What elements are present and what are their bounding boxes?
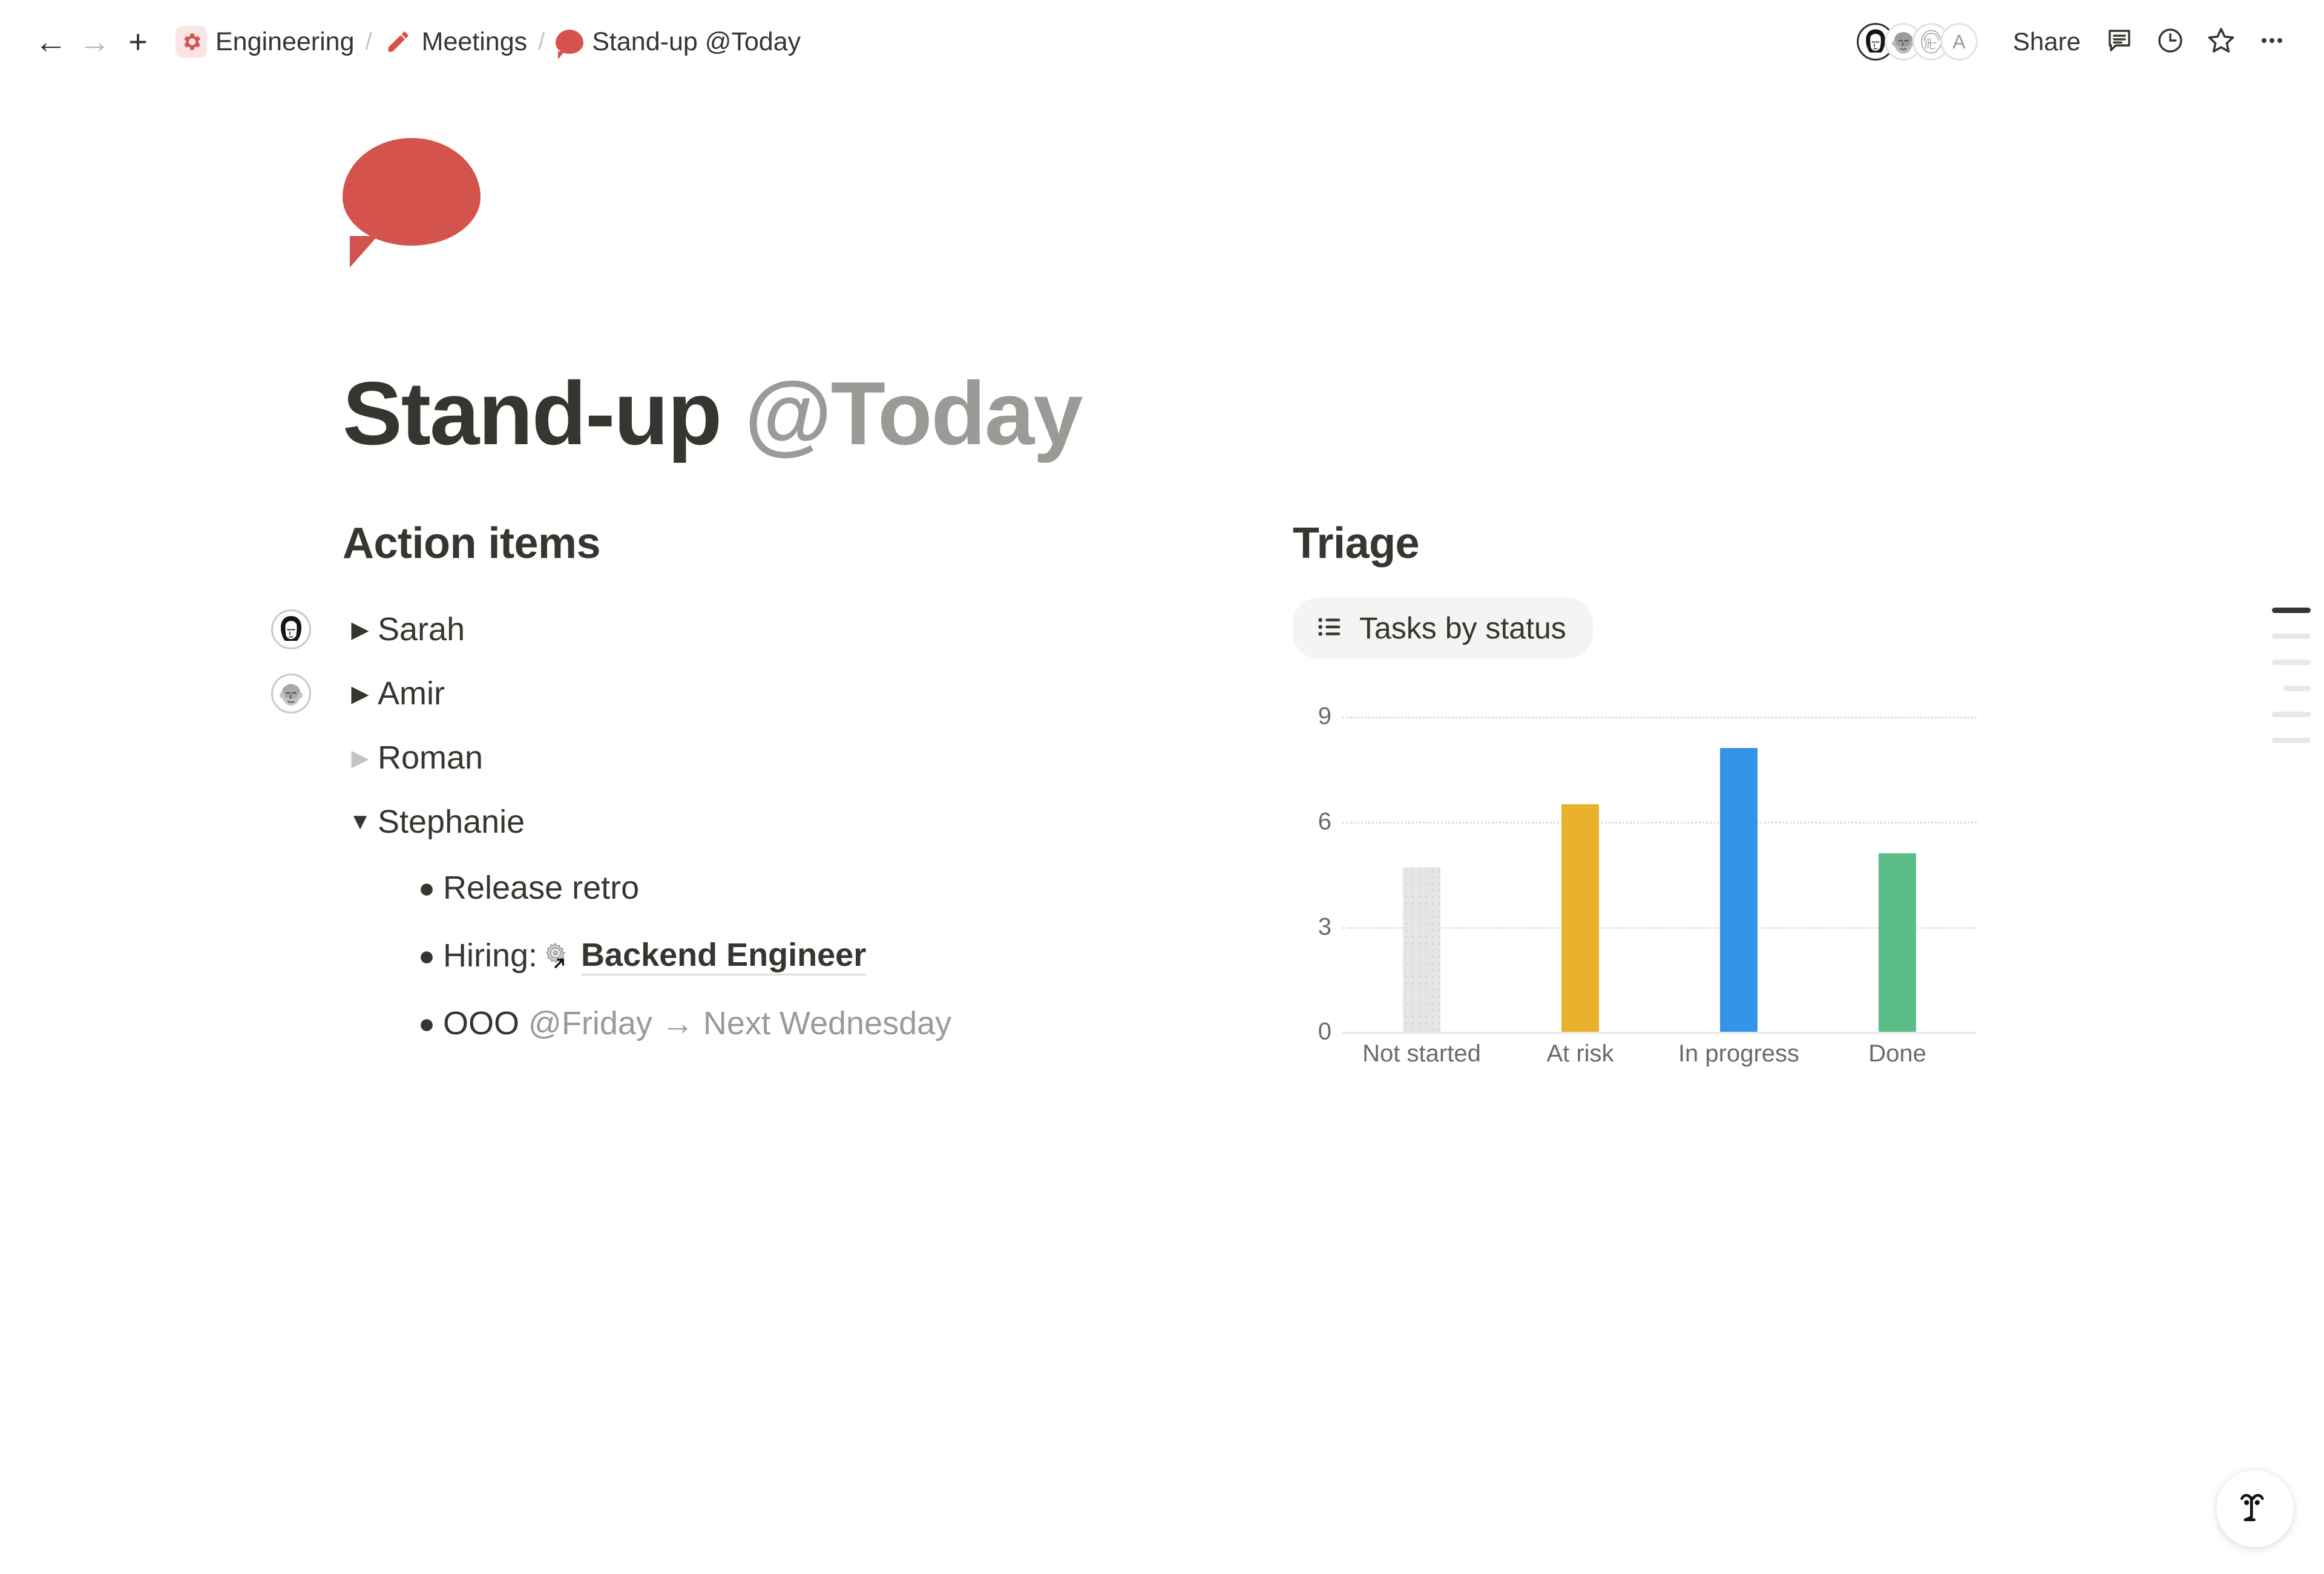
chart-bar[interactable] xyxy=(1561,804,1599,1032)
list-item-hiring-content: Hiring: Backend Engineer xyxy=(443,936,866,976)
comment-icon xyxy=(2105,26,2134,58)
plus-icon: + xyxy=(128,25,148,58)
collaborator-avatars: A xyxy=(1857,23,1978,61)
bullet-icon: ● xyxy=(410,874,443,902)
chart-y-tick-label: 9 xyxy=(1289,703,1331,730)
avatar-placeholder[interactable]: A xyxy=(1940,23,1978,61)
breadcrumb: Engineering / Meetings / Stand-up @Today xyxy=(168,21,808,62)
chart-gridline xyxy=(1342,822,1977,824)
date-mention-from[interactable]: @Friday xyxy=(528,1005,652,1042)
action-item-row-roman[interactable]: ▶ Roman xyxy=(343,726,1262,790)
chart-y-tick-label: 3 xyxy=(1289,913,1331,940)
minimap-outline-bar[interactable] xyxy=(2272,660,2311,665)
toggle-icon-stephanie[interactable]: ▼ xyxy=(343,809,378,835)
pencil-icon xyxy=(383,27,413,57)
toggle-icon-roman[interactable]: ▶ xyxy=(343,744,378,772)
list-item-text: Release retro xyxy=(443,869,639,907)
action-items-heading: Action items xyxy=(343,519,1262,568)
breadcrumb-label-meetings: Meetings xyxy=(422,27,527,57)
notion-ai-face-icon xyxy=(2234,1486,2276,1532)
breadcrumb-label-standup: Stand-up @Today xyxy=(592,27,801,57)
action-item-label-stephanie: Stephanie xyxy=(378,803,525,841)
hiring-prefix-label: Hiring: xyxy=(443,937,537,974)
breadcrumb-item-engineering[interactable]: Engineering xyxy=(168,21,362,62)
avatar-sarah-row xyxy=(271,609,311,649)
chart-x-tick-label: In progress xyxy=(1678,1040,1799,1067)
gear-link-icon xyxy=(542,942,573,972)
navigation-controls: ← → + xyxy=(29,20,160,64)
action-item-label-amir: Amir xyxy=(378,675,445,712)
tasks-by-status-chart: 9630 Not startedAt riskIn progressDone xyxy=(1293,695,1977,1069)
chart-plot-area: 9630 xyxy=(1342,695,1977,1032)
minimap-outline-bar[interactable] xyxy=(2283,686,2311,691)
avatar-amir-row xyxy=(271,674,311,713)
tasks-by-status-chip[interactable]: Tasks by status xyxy=(1293,597,1593,659)
minimap-outline-bar[interactable] xyxy=(2272,738,2311,743)
triage-column: Triage Tasks by status xyxy=(1262,519,2158,1069)
tasks-by-status-label: Tasks by status xyxy=(1359,611,1566,646)
list-item-ooo-content: OOO @Friday → Next Wednesday xyxy=(443,1005,951,1042)
chart-x-tick-label: Done xyxy=(1868,1040,1926,1067)
notion-ai-button[interactable] xyxy=(2216,1470,2294,1547)
page-history-button[interactable] xyxy=(2147,19,2193,65)
speech-bubble-emoji xyxy=(343,138,481,246)
breadcrumb-separator-2: / xyxy=(534,28,548,56)
page-icon[interactable] xyxy=(343,138,482,259)
page-title-date-mention: @Today xyxy=(744,364,1082,464)
gear-icon xyxy=(176,26,207,57)
date-mention-to[interactable]: Next Wednesday xyxy=(703,1005,951,1042)
chart-y-tick-label: 0 xyxy=(1289,1018,1331,1046)
minimap-outline-bar[interactable] xyxy=(2272,634,2311,639)
breadcrumb-item-meetings[interactable]: Meetings xyxy=(376,22,534,62)
more-options-button[interactable] xyxy=(2249,19,2295,65)
chart-bar[interactable] xyxy=(1403,867,1440,1032)
action-item-row-amir[interactable]: ▶ Amir xyxy=(343,661,1262,726)
chart-axis-line xyxy=(1342,1032,1977,1034)
page-content: Stand-up @Today Action items xyxy=(0,84,2324,1069)
action-items-column: Action items ▶ Sarah xyxy=(343,519,1262,1057)
chart-bar[interactable] xyxy=(1720,748,1758,1032)
chart-x-tick-label: At risk xyxy=(1546,1040,1613,1067)
ooo-label: OOO xyxy=(443,1005,519,1042)
chart-x-axis-labels: Not startedAt riskIn progressDone xyxy=(1342,1040,1977,1077)
chart-gridline xyxy=(1342,716,1977,718)
bullet-icon: ● xyxy=(410,942,443,969)
content-columns: Action items ▶ Sarah xyxy=(343,519,2324,1069)
action-item-row-sarah[interactable]: ▶ Sarah xyxy=(343,597,1262,661)
action-item-label-roman: Roman xyxy=(378,739,483,776)
page-title-main: Stand-up xyxy=(343,364,744,464)
top-bar: ← → + Engineering / Meetings xyxy=(0,0,2324,84)
more-ellipsis-icon xyxy=(2257,26,2286,58)
new-page-button[interactable]: + xyxy=(116,20,160,64)
share-button[interactable]: Share xyxy=(2002,21,2092,62)
arrow-right-icon: → xyxy=(78,25,111,58)
topbar-actions: A Share xyxy=(1857,19,2295,65)
page-title[interactable]: Stand-up @Today xyxy=(343,367,2324,461)
action-item-row-stephanie[interactable]: ▼ Stephanie xyxy=(343,790,1262,854)
breadcrumb-separator: / xyxy=(362,28,376,56)
triage-heading: Triage xyxy=(1293,519,2158,568)
star-favorite-icon xyxy=(2206,25,2236,59)
avatar-initial: A xyxy=(1952,31,1965,53)
list-item-hiring[interactable]: ● Hiring: xyxy=(343,922,1262,989)
bulleted-list-icon xyxy=(1316,613,1344,644)
bullet-icon: ● xyxy=(410,1009,443,1037)
list-item-release-retro[interactable]: ● Release retro xyxy=(343,854,1262,922)
action-item-label-sarah: Sarah xyxy=(378,611,465,648)
breadcrumb-item-standup[interactable]: Stand-up @Today xyxy=(548,22,808,62)
comments-button[interactable] xyxy=(2096,19,2142,65)
chart-bar[interactable] xyxy=(1879,853,1916,1032)
forward-button[interactable]: → xyxy=(73,20,116,64)
page-link-backend-engineer[interactable]: Backend Engineer xyxy=(581,936,866,976)
minimap-outline-bar[interactable] xyxy=(2272,712,2311,717)
chart-y-tick-label: 6 xyxy=(1289,808,1331,835)
chart-x-tick-label: Not started xyxy=(1362,1040,1481,1067)
list-item-ooo[interactable]: ● OOO @Friday → Next Wednesday xyxy=(343,989,1262,1057)
favorite-button[interactable] xyxy=(2198,19,2244,65)
minimap-outline-bar[interactable] xyxy=(2272,608,2311,613)
clock-history-icon xyxy=(2156,26,2185,58)
arrow-right-glyph: → xyxy=(661,1005,694,1042)
page-outline-minimap[interactable] xyxy=(2272,608,2311,743)
speech-bubble-icon xyxy=(556,30,583,54)
breadcrumb-label-engineering: Engineering xyxy=(215,27,355,57)
toggle-icon-amir[interactable]: ▶ xyxy=(343,680,378,707)
toggle-icon-sarah[interactable]: ▶ xyxy=(343,616,378,643)
arrow-left-icon: ← xyxy=(34,25,67,58)
back-button[interactable]: ← xyxy=(29,20,73,64)
